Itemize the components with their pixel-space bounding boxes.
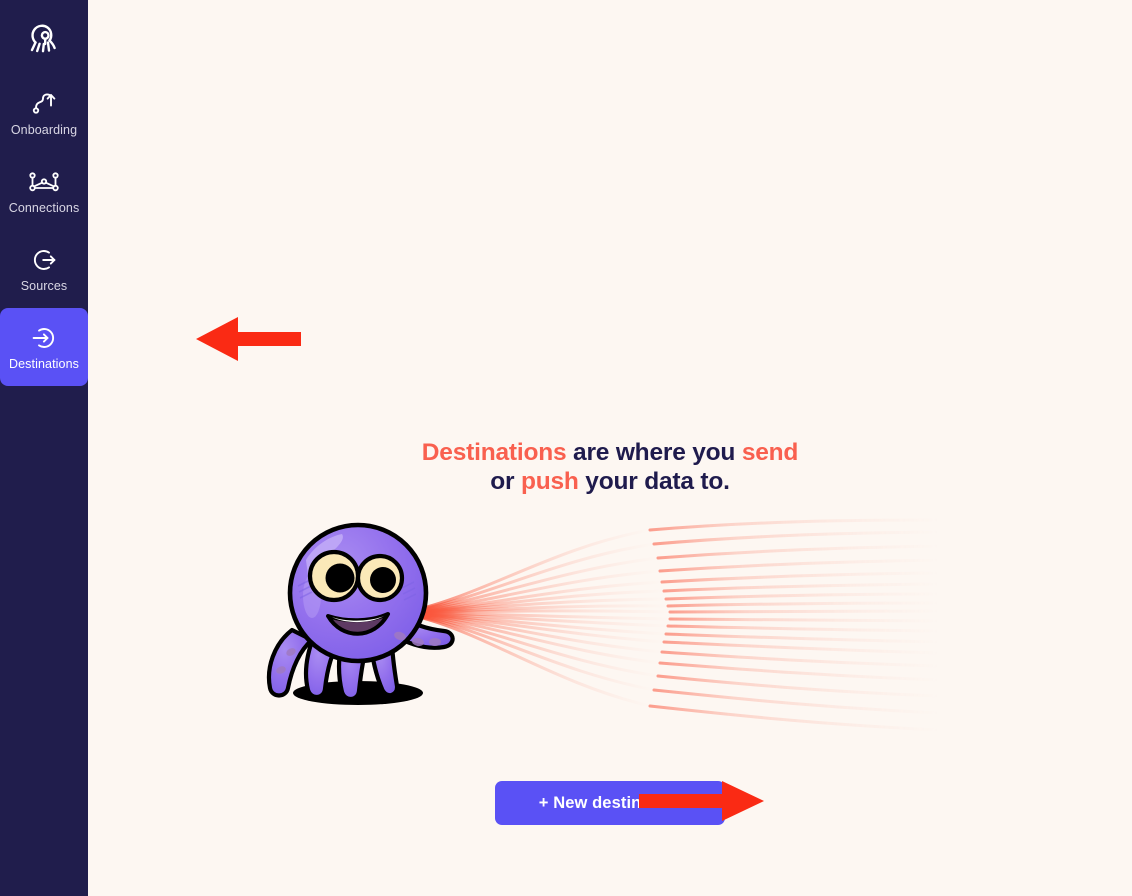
sidebar-item-label: Connections	[9, 202, 80, 215]
app-root: Onboarding Connections	[0, 0, 1132, 896]
new-destination-button[interactable]: + New destination	[495, 781, 725, 825]
red-arrow-pointing-to-destinations-nav	[196, 315, 301, 363]
headline-accent-push: push	[521, 468, 579, 495]
data-rays-far	[650, 520, 940, 730]
sidebar-item-label: Destinations	[9, 358, 79, 371]
network-nodes-icon	[27, 167, 61, 197]
sidebar-item-sources[interactable]: Sources	[0, 230, 88, 308]
page-title: Destinations are where you sendor push y…	[290, 438, 930, 496]
sidebar-item-destinations[interactable]: Destinations	[0, 308, 88, 386]
octopus-illustration	[250, 518, 970, 733]
sidebar-item-label: Sources	[21, 280, 68, 293]
circle-arrow-out-icon	[29, 245, 59, 275]
headline-accent-send: send	[742, 439, 798, 466]
data-rays	[402, 530, 670, 706]
empty-state-hero: Destinations are where you sendor push y…	[88, 438, 1132, 825]
headline-text-3: your data to.	[579, 468, 730, 495]
s-curve-arrow-icon	[29, 89, 59, 119]
sidebar-item-label: Onboarding	[11, 124, 77, 137]
sidebar: Onboarding Connections	[0, 0, 88, 896]
octopus-mascot-svg	[250, 518, 970, 733]
main-content: Destinations are where you sendor push y…	[88, 0, 1132, 896]
octopus-logo-icon	[22, 15, 66, 59]
headline-text-2: or	[490, 468, 521, 495]
headline-text-1: are where you	[566, 439, 741, 466]
sidebar-item-connections[interactable]: Connections	[0, 152, 88, 230]
headline-accent-destinations: Destinations	[422, 439, 567, 466]
app-logo[interactable]	[0, 0, 88, 74]
circle-arrow-in-icon	[29, 323, 59, 353]
sidebar-item-onboarding[interactable]: Onboarding	[0, 74, 88, 152]
